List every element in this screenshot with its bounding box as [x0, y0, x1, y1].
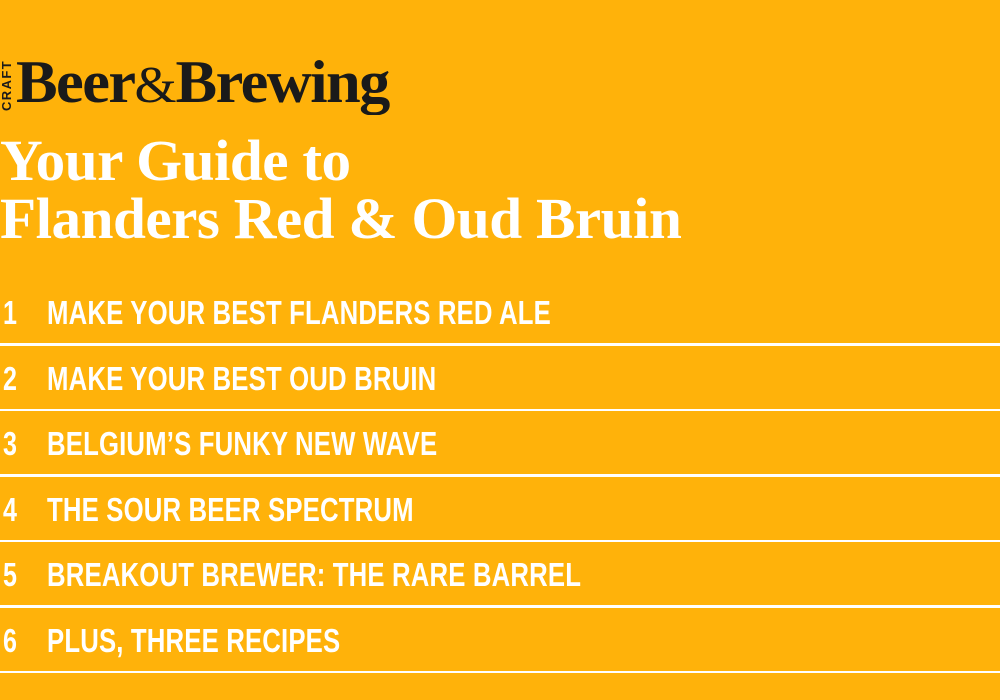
brand-masthead: CRAFT Beer&Brewing	[0, 56, 374, 108]
toc-item-label: BELGIUM’S FUNKY NEW WAVE	[47, 427, 437, 460]
toc-item-number: 2	[0, 362, 36, 395]
toc-item-label: BREAKOUT BREWER: THE RARE BARREL	[47, 558, 581, 591]
masthead-wordmark: Beer&Brewing	[16, 58, 389, 108]
toc-row[interactable]: 3 BELGIUM’S FUNKY NEW WAVE	[0, 411, 1000, 477]
poster-canvas: CRAFT Beer&Brewing Your Guide to Flander…	[0, 0, 1000, 700]
toc-item-label: MAKE YOUR BEST OUD BRUIN	[47, 362, 436, 395]
toc-item-number: 5	[0, 558, 36, 591]
masthead-kicker-craft: CRAFT	[0, 63, 13, 107]
toc-row[interactable]: 6 PLUS, THREE RECIPES	[0, 608, 1000, 674]
masthead-wordmark-beer: Beer	[16, 49, 134, 115]
toc-item-label: PLUS, THREE RECIPES	[47, 624, 340, 657]
toc-item-number: 4	[0, 493, 36, 526]
toc-item-number: 3	[0, 427, 36, 460]
toc-row[interactable]: 5 BREAKOUT BREWER: THE RARE BARREL	[0, 542, 1000, 608]
page-title: Your Guide to Flanders Red & Oud Bruin	[0, 132, 1000, 248]
table-of-contents: 1 MAKE YOUR BEST FLANDERS RED ALE 2 MAKE…	[0, 280, 1000, 673]
toc-item-label: THE SOUR BEER SPECTRUM	[47, 493, 414, 526]
masthead-wordmark-brewing: Brewing	[176, 49, 389, 115]
page-title-line-1: Your Guide to	[0, 132, 1000, 190]
toc-item-number: 1	[0, 296, 36, 329]
toc-row[interactable]: 4 THE SOUR BEER SPECTRUM	[0, 477, 1000, 543]
toc-item-number: 6	[0, 624, 36, 657]
page-title-line-2: Flanders Red & Oud Bruin	[0, 190, 1000, 248]
toc-row[interactable]: 1 MAKE YOUR BEST FLANDERS RED ALE	[0, 280, 1000, 346]
toc-row[interactable]: 2 MAKE YOUR BEST OUD BRUIN	[0, 346, 1000, 412]
toc-item-label: MAKE YOUR BEST FLANDERS RED ALE	[47, 296, 551, 329]
masthead-wordmark-ampersand: &	[134, 57, 175, 114]
